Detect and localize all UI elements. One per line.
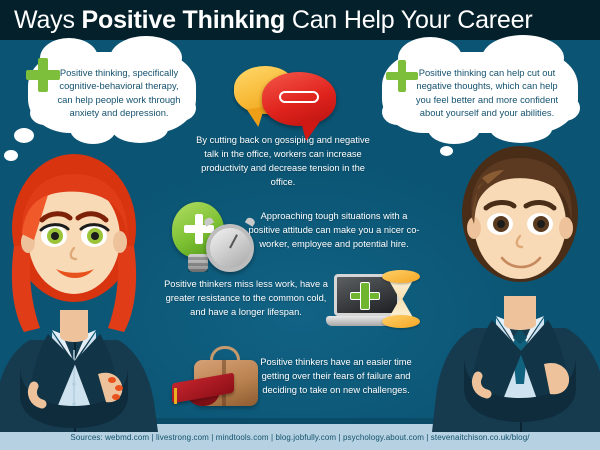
page-title: Ways Positive Thinking Can Help Your Car… (14, 6, 532, 35)
hourglass-cap (382, 270, 420, 283)
lightbulb-clock-icon (166, 200, 260, 276)
title-highlight: Positive Thinking (82, 6, 286, 34)
minus-icon (279, 91, 319, 103)
plus-icon (350, 282, 380, 310)
clock-bell-icon (245, 216, 256, 227)
speech-bubble-red (262, 72, 336, 126)
hourglass-cap (382, 315, 420, 328)
header-bar: Ways Positive Thinking Can Help Your Car… (0, 0, 600, 40)
point-gossip-text: By cutting back on gossiping and negativ… (192, 134, 374, 190)
thought-dot (4, 150, 18, 161)
infographic-canvas: Ways Positive Thinking Can Help Your Car… (0, 0, 600, 450)
callout-right-text: Positive thinking can help cut out negat… (408, 66, 566, 119)
hourglass-icon (382, 270, 420, 328)
callout-left-text: Positive thinking, specifically cognitiv… (54, 66, 184, 119)
green-plus-icon (26, 58, 60, 92)
green-plus-icon (386, 60, 418, 92)
graduation-cap-briefcase-icon (172, 348, 264, 412)
title-suffix: Can Help Your Career (285, 6, 532, 34)
point-fear-text: Positive thinkers have an easier time ge… (248, 356, 424, 398)
speech-bubbles-icon (232, 62, 340, 130)
businessman-illustration (432, 132, 600, 432)
businesswoman-illustration (0, 150, 160, 432)
plus-vertical-bar (38, 58, 48, 92)
plus-vertical-bar (398, 60, 407, 92)
title-prefix: Ways (14, 6, 82, 34)
alarm-clock-icon (206, 224, 254, 272)
point-attitude-text: Approaching tough situations with a posi… (248, 210, 420, 252)
sources-text: Sources: webmd.com | livestrong.com | mi… (70, 433, 529, 442)
plus-vertical-bar (360, 282, 370, 310)
bubble-tail (296, 118, 319, 142)
laptop-hourglass-icon (330, 268, 420, 334)
cloud-puff (112, 115, 168, 143)
lightbulb-base (188, 254, 208, 272)
plus-vertical-bar (195, 214, 203, 244)
point-health-text: Positive thinkers miss less work, have a… (158, 278, 334, 320)
graduation-tassel (174, 388, 177, 404)
thought-dot (440, 146, 453, 156)
